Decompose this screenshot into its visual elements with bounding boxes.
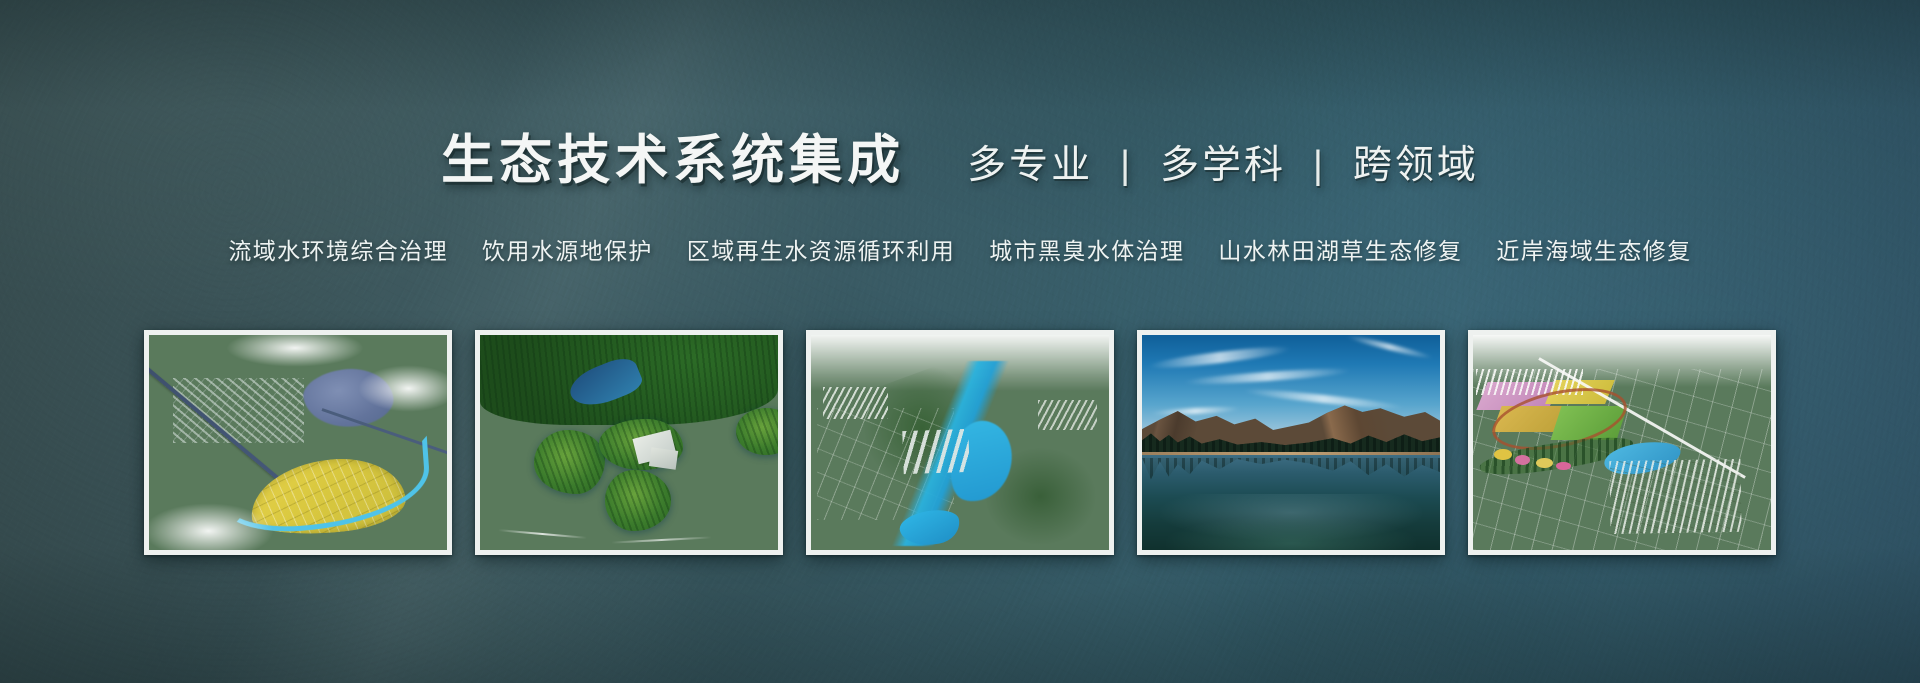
tagline-item-5: 山水林田湖草生态修复 bbox=[1201, 232, 1479, 266]
boat-wake-line-1 bbox=[498, 529, 587, 539]
river-greenway-image bbox=[811, 335, 1109, 550]
tagline-item-2: 饮用水源地保护 bbox=[465, 232, 670, 266]
boat-wake-line-2 bbox=[611, 537, 712, 544]
hero-banner: 生态技术系统集成 多专业 | 多学科 | 跨领域 流域水环境综合治理 饮用水源地… bbox=[0, 0, 1920, 683]
resort-building-shape-2 bbox=[649, 447, 678, 470]
river-greenway-thumbnail[interactable] bbox=[806, 330, 1114, 555]
subtitle-part-1: 多专业 bbox=[967, 144, 1093, 187]
cloud-shape-2 bbox=[358, 365, 447, 412]
page-title: 生态技术系统集成 bbox=[441, 118, 905, 194]
cloud-shape-3 bbox=[226, 335, 363, 367]
farmland-restoration-thumbnail[interactable] bbox=[1468, 330, 1776, 555]
tagline-item-4: 城市黑臭水体治理 bbox=[972, 232, 1201, 266]
subtitle-part-3: 跨领域 bbox=[1353, 144, 1479, 187]
subtitle-separator-1: | bbox=[1107, 144, 1146, 188]
headline-row: 生态技术系统集成 多专业 | 多学科 | 跨领域 bbox=[0, 118, 1920, 194]
industrial-blocks-shape bbox=[903, 428, 970, 473]
subtitle-separator-2: | bbox=[1300, 144, 1339, 188]
flower-bed-2 bbox=[1515, 455, 1530, 465]
project-gallery bbox=[0, 330, 1920, 555]
mountain-lake-image bbox=[1142, 335, 1440, 550]
banner-content: 生态技术系统集成 多专业 | 多学科 | 跨领域 流域水环境综合治理 饮用水源地… bbox=[0, 0, 1920, 683]
reservoir-islands-thumbnail[interactable] bbox=[475, 330, 783, 555]
farmland-restoration-image bbox=[1473, 335, 1771, 550]
tagline-item-3: 区域再生水资源循环利用 bbox=[670, 232, 972, 266]
island-shape-1 bbox=[534, 430, 606, 495]
village-cluster-shape-2 bbox=[1038, 400, 1098, 430]
island-shape-3 bbox=[605, 470, 671, 530]
tagline-row: 流域水环境综合治理 饮用水源地保护 区域再生水资源循环利用 城市黑臭水体治理 山… bbox=[0, 232, 1920, 266]
village-settlement-shape bbox=[1609, 459, 1741, 534]
island-shape-4 bbox=[736, 408, 778, 455]
watershed-masterplan-thumbnail[interactable] bbox=[144, 330, 452, 555]
headline-subtitle: 多专业 | 多学科 | 跨领域 bbox=[967, 134, 1479, 190]
shallow-water-glow bbox=[1166, 516, 1416, 550]
tagline-item-1: 流域水环境综合治理 bbox=[211, 232, 465, 266]
village-cluster-shape-1 bbox=[823, 387, 889, 419]
watershed-masterplan-image bbox=[149, 335, 447, 550]
mountain-lake-thumbnail[interactable] bbox=[1137, 330, 1445, 555]
subtitle-part-2: 多学科 bbox=[1160, 144, 1286, 187]
tagline-item-6: 近岸海域生态修复 bbox=[1479, 232, 1708, 266]
cloud-shape-1 bbox=[149, 503, 274, 550]
urban-fabric-shape bbox=[173, 378, 304, 443]
flower-bed-1 bbox=[1494, 449, 1512, 460]
reservoir-islands-image bbox=[480, 335, 778, 550]
